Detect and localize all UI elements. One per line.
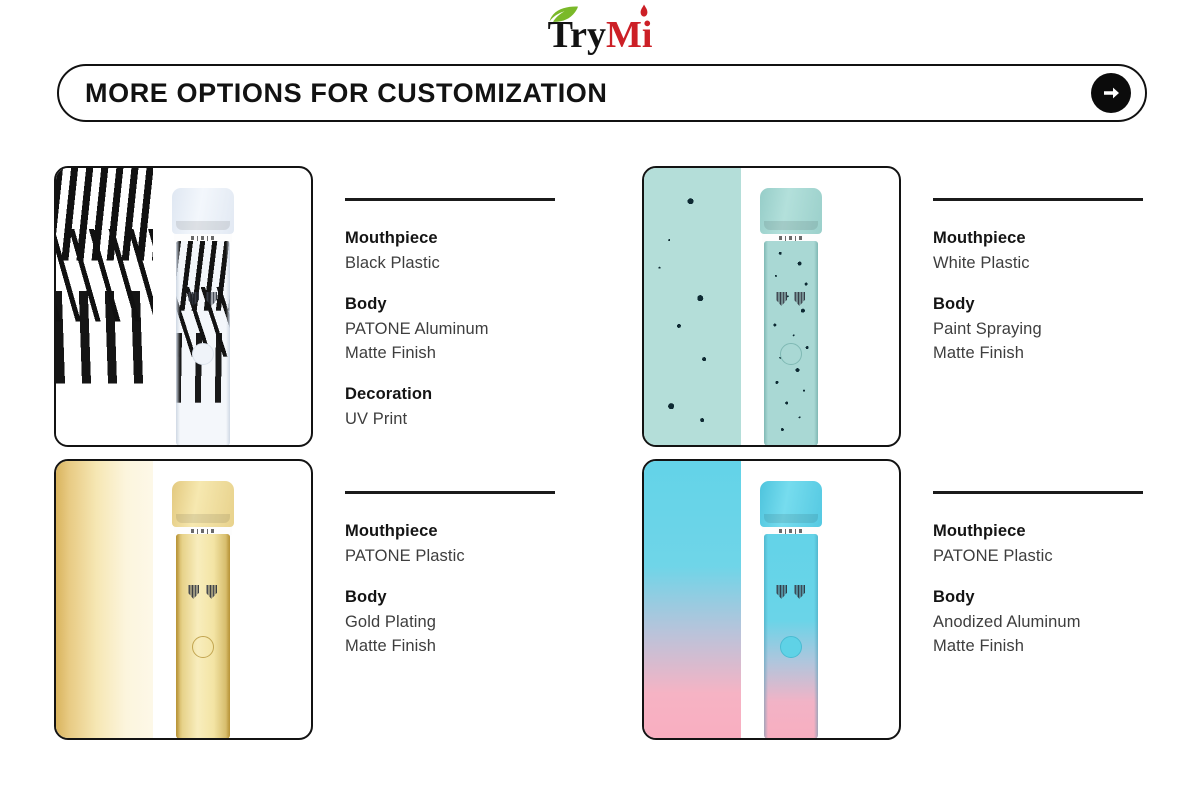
band-mark <box>207 529 208 534</box>
product-image-card[interactable] <box>54 166 313 447</box>
device-logo-mark <box>206 585 217 599</box>
device-logo-mark <box>776 585 787 599</box>
spec-value: Matte Finish <box>345 341 575 366</box>
spec-label: Mouthpiece <box>345 520 575 544</box>
product-image-card[interactable] <box>642 459 901 740</box>
option-card-gold-plating: Mouthpiece PATONE Plastic Body Gold Plat… <box>54 459 575 740</box>
band-mark <box>799 236 802 240</box>
device-fire-button <box>780 636 802 658</box>
spec-label: Mouthpiece <box>933 520 1163 544</box>
band-mark <box>785 236 786 241</box>
band-mark <box>795 236 796 241</box>
spec-group-mouthpiece: Mouthpiece Black Plastic <box>345 227 575 276</box>
spec-group-body: Body Gold Plating Matte Finish <box>345 586 575 659</box>
band-mark <box>789 236 792 240</box>
color-swatch-strip <box>56 168 153 445</box>
spec-value: PATONE Aluminum <box>345 317 575 342</box>
spec-divider <box>345 198 555 201</box>
band-mark <box>207 236 208 241</box>
device-logo-marks <box>776 292 805 306</box>
band-mark <box>779 236 782 240</box>
device-logo-mark <box>188 292 199 306</box>
product-image-card[interactable] <box>54 459 313 740</box>
band-mark <box>211 529 214 533</box>
mouthpiece-shadow <box>764 221 818 230</box>
device-logo-marks <box>188 292 217 306</box>
band-mark <box>211 236 214 240</box>
spec-label: Body <box>345 586 575 610</box>
option-card-anodized-gradient: Mouthpiece PATONE Plastic Body Anodized … <box>642 459 1163 740</box>
band-mark <box>201 529 204 533</box>
device-render <box>760 188 822 446</box>
color-swatch-strip <box>644 168 741 445</box>
option-card-mint-speckle: Mouthpiece White Plastic Body Paint Spra… <box>642 166 1163 447</box>
body-edge-left <box>764 534 768 739</box>
spec-group-mouthpiece: Mouthpiece PATONE Plastic <box>933 520 1163 569</box>
spec-value: Matte Finish <box>933 341 1163 366</box>
body-edge-left <box>176 534 180 739</box>
device-render <box>172 188 234 446</box>
spec-value: UV Print <box>345 407 575 432</box>
spec-value: Paint Spraying <box>933 317 1163 342</box>
body-edge-right <box>226 241 230 446</box>
device-logo-mark <box>776 292 787 306</box>
band-mark <box>197 529 198 534</box>
color-swatch-strip <box>644 461 741 738</box>
spec-divider <box>345 491 555 494</box>
color-swatch-strip <box>56 461 153 738</box>
mouthpiece-shadow <box>176 514 230 523</box>
body-edge-right <box>814 534 818 739</box>
band-mark <box>795 529 796 534</box>
spec-value: Black Plastic <box>345 251 575 276</box>
spec-list: Mouthpiece Black Plastic Body PATONE Alu… <box>345 166 575 432</box>
device-logo-mark <box>794 292 805 306</box>
device-fire-button <box>192 343 214 365</box>
spec-group-mouthpiece: Mouthpiece PATONE Plastic <box>345 520 575 569</box>
band-mark <box>191 236 194 240</box>
brand-logo-container: TryMi <box>0 8 1200 54</box>
device-logo-marks <box>188 585 217 599</box>
spec-label: Decoration <box>345 383 575 407</box>
device-render <box>172 481 234 739</box>
spec-label: Mouthpiece <box>345 227 575 251</box>
section-header-bar: MORE OPTIONS FOR CUSTOMIZATION <box>57 64 1147 122</box>
page-title: MORE OPTIONS FOR CUSTOMIZATION <box>85 78 608 109</box>
device-logo-mark <box>794 585 805 599</box>
spec-group-body: Body Anodized Aluminum Matte Finish <box>933 586 1163 659</box>
brand-name-primary: Try <box>548 14 606 56</box>
device-fire-button <box>780 343 802 365</box>
option-card-zebra-uv-print: Mouthpiece Black Plastic Body PATONE Alu… <box>54 166 575 447</box>
body-edge-right <box>226 534 230 739</box>
body-edge-right <box>814 241 818 446</box>
mouthpiece-shadow <box>176 221 230 230</box>
band-mark <box>197 236 198 241</box>
device-fire-button <box>192 636 214 658</box>
band-mark <box>779 529 782 533</box>
spec-label: Mouthpiece <box>933 227 1163 251</box>
spec-value: PATONE Plastic <box>933 544 1163 569</box>
spec-value: Matte Finish <box>933 634 1163 659</box>
spec-label: Body <box>345 293 575 317</box>
brand-name-accent: Mi <box>606 14 652 56</box>
body-edge-left <box>764 241 768 446</box>
band-mark <box>191 529 194 533</box>
device-logo-marks <box>776 585 805 599</box>
body-edge-left <box>176 241 180 446</box>
arrow-right-icon <box>1100 82 1122 104</box>
options-grid: Mouthpiece Black Plastic Body PATONE Alu… <box>0 166 1200 766</box>
spec-divider <box>933 198 1143 201</box>
band-mark <box>785 529 786 534</box>
device-logo-mark <box>188 585 199 599</box>
device-render <box>760 481 822 739</box>
spec-label: Body <box>933 293 1163 317</box>
band-mark <box>799 529 802 533</box>
brand-logo: TryMi <box>548 8 653 54</box>
spec-group-decoration: Decoration UV Print <box>345 383 575 432</box>
spec-list: Mouthpiece PATONE Plastic Body Anodized … <box>933 459 1163 659</box>
spec-value: Matte Finish <box>345 634 575 659</box>
product-image-card[interactable] <box>642 166 901 447</box>
next-section-button[interactable] <box>1091 73 1131 113</box>
spec-value: Gold Plating <box>345 610 575 635</box>
spec-list: Mouthpiece White Plastic Body Paint Spra… <box>933 166 1163 366</box>
spec-value: PATONE Plastic <box>345 544 575 569</box>
spec-divider <box>933 491 1143 494</box>
spec-group-body: Body Paint Spraying Matte Finish <box>933 293 1163 366</box>
spec-list: Mouthpiece PATONE Plastic Body Gold Plat… <box>345 459 575 659</box>
mouthpiece-shadow <box>764 514 818 523</box>
band-mark <box>201 236 204 240</box>
device-logo-mark <box>206 292 217 306</box>
band-mark <box>789 529 792 533</box>
spec-value: White Plastic <box>933 251 1163 276</box>
spec-group-mouthpiece: Mouthpiece White Plastic <box>933 227 1163 276</box>
customization-options-page: TryMi MORE OPTIONS FOR CUSTOMIZATION <box>0 0 1200 800</box>
spec-label: Body <box>933 586 1163 610</box>
spec-value: Anodized Aluminum <box>933 610 1163 635</box>
spec-group-body: Body PATONE Aluminum Matte Finish <box>345 293 575 366</box>
